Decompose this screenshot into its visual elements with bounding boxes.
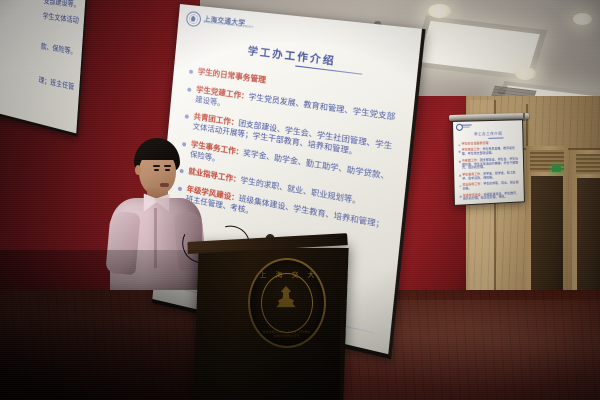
bullet-dot-icon — [459, 151, 461, 153]
bullet-dot-icon — [187, 87, 191, 92]
screen-roller-arm — [523, 113, 525, 121]
right-slide-bullet-list: 学生的日常事务管理 学生党建工作：学生党员发展、教育和管理、学生党支部建设等。 … — [458, 141, 520, 205]
left-slide-content: 支部建设等。 学生文体活动 款、保险等。 理；班主任管 — [0, 0, 86, 133]
left-slide-fragment: 款、保险等。 — [40, 41, 77, 58]
projection-screen-right: 学工办工作介绍 学生的日常事务管理 学生党建工作：学生党员发展、教育和管理、学生… — [452, 119, 525, 206]
bullet-dot-icon — [460, 196, 462, 198]
sjtu-wordmark: 上海交通大学 SHANGHAI JIAO TONG UNIVERSITY — [203, 16, 254, 31]
speaker-mouth — [160, 183, 169, 187]
bullet-text: 共青团工作：团支部建设、学生会、学生社团管理、学生文体活动开展等；学生干部教育、… — [462, 157, 520, 171]
sjtu-logo: 上海交通大学 SHANGHAI JIAO TONG UNIVERSITY — [186, 11, 255, 33]
bullet-head: 学生的日常事务管理 — [461, 141, 488, 146]
speaker-eyebrow-right — [164, 165, 171, 167]
bullet-dot-icon — [458, 144, 460, 146]
bullet-text: 年级学风建设：班级集体建设、学生教育、培养和管理；班主任管理、考核。 — [463, 191, 520, 201]
door-transom-slats-2 — [576, 154, 600, 174]
mini-wordmark-cn — [462, 124, 472, 126]
lecture-hall-photo: 支部建设等。 学生文体活动 款、保险等。 理；班主任管 上海交通大学 SHANG… — [0, 0, 600, 400]
list-item: 学生党建工作：学生党员发展、教育和管理、学生党支部建设等。 — [459, 147, 520, 157]
mini-sjtu-logo — [456, 123, 472, 128]
left-slide-fragment: 学生文体活动 — [42, 11, 79, 26]
projection-screen-left: 支部建设等。 学生文体活动 款、保险等。 理；班主任管 — [0, 0, 88, 137]
podium-university-emblem: 上海交大 SHANGHAI JIAO TONG UNIVERSITY — [248, 258, 326, 348]
speaker-eye-left — [154, 169, 159, 171]
mini-wordmark-en — [462, 127, 470, 128]
bullet-dot-icon — [459, 161, 461, 163]
list-item: 年级学风建设：班级集体建设、学生教育、培养和管理；班主任管理、考核。 — [460, 191, 520, 202]
speaker-eye-right — [165, 169, 170, 171]
bullet-dot-icon — [185, 114, 189, 119]
left-slide-fragment: 理；班主任管 — [38, 74, 74, 92]
bullet-dot-icon — [459, 185, 461, 187]
left-slide-fragment: 支部建设等。 — [43, 0, 80, 10]
bullet-dot-icon — [459, 175, 461, 177]
exit-sign-icon — [552, 166, 561, 172]
bullet-dot-icon — [189, 70, 193, 74]
emblem-name-en: SHANGHAI JIAO TONG UNIVERSITY — [250, 330, 324, 338]
emblem-name-cn: 上海交大 — [250, 270, 324, 280]
right-slide-title-underline — [488, 137, 503, 138]
speaker-eyebrow-left — [153, 165, 160, 167]
bullet-text: 学生的日常事务管理 — [197, 67, 266, 86]
bullet-head: 学生的日常事务管理 — [197, 67, 266, 85]
sjtu-seal-icon — [186, 11, 202, 28]
list-item: 共青团工作：团支部建设、学生会、学生社团管理、学生文体活动开展等；学生干部教育、… — [459, 157, 520, 171]
bullet-text: 学生的日常事务管理 — [461, 142, 488, 147]
speaker-ear — [135, 165, 141, 175]
bullet-text: 学生党建工作：学生党员发展、教育和管理、学生党支部建设等。 — [462, 147, 520, 157]
